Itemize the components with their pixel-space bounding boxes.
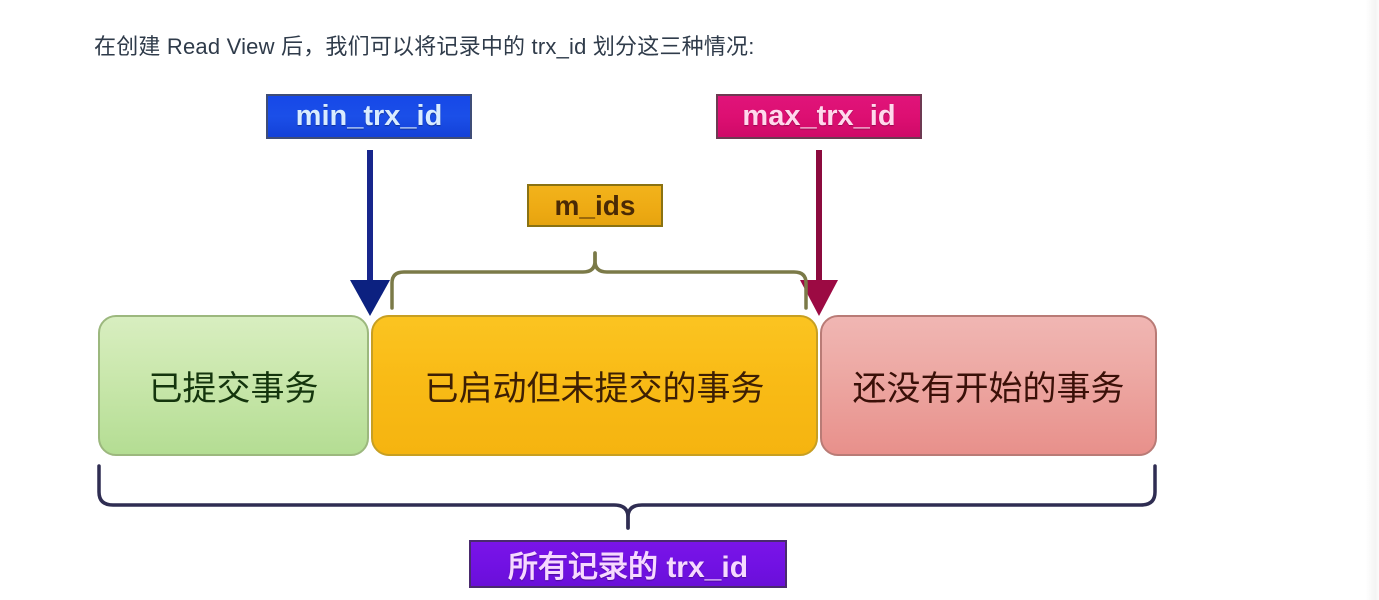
diagram-canvas: 在创建 Read View 后，我们可以将记录中的 trx_id 划分这三种情况… (0, 0, 1379, 600)
segment-started-not-committed: 已启动但未提交的事务 (371, 315, 818, 456)
label-m-ids: m_ids (527, 184, 663, 227)
max-trx-id-arrow (800, 150, 838, 316)
min-trx-id-arrow (350, 150, 390, 316)
connector-overlay (0, 0, 1379, 600)
page-title: 在创建 Read View 后，我们可以将记录中的 trx_id 划分这三种情况… (94, 30, 755, 64)
label-all-record-trx-id: 所有记录的 trx_id (469, 540, 787, 588)
all-trx-id-brace (99, 466, 1155, 528)
label-max-trx-id: max_trx_id (716, 94, 922, 139)
segment-committed: 已提交事务 (98, 315, 369, 456)
label-min-trx-id: min_trx_id (266, 94, 472, 139)
segment-not-started: 还没有开始的事务 (820, 315, 1157, 456)
page-edge-shade (1365, 0, 1379, 600)
m-ids-brace (392, 253, 806, 308)
